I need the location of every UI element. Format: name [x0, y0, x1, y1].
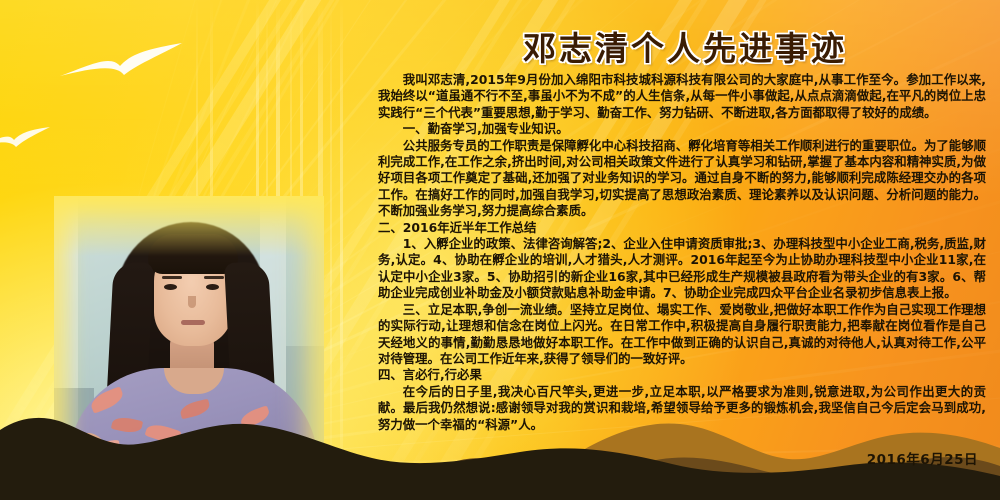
body-paragraph: 1、入孵企业的政策、法律咨询解答;2、企业入住申请资质审批;3、办理科技型中小企…: [378, 236, 986, 302]
seagull-icon-small: [0, 126, 52, 152]
body-paragraph: 我叫邓志清,2015年9月份加入绵阳市科技城科源科技有限公司的大家庭中,从事工作…: [378, 72, 986, 121]
body-paragraph: 在今后的日子里,我决心百尺竿头,更进一步,立足本职,以严格要求为准则,锐意进取,…: [378, 384, 986, 433]
eye-right: [206, 284, 219, 290]
body-paragraph: 公共服务专员的工作职责是保障孵化中心科技招商、孵化培育等相关工作顺利进行的重要职…: [378, 138, 986, 220]
light-column: [340, 0, 343, 500]
body-paragraph: 一、勤奋学习,加强专业知识。: [378, 121, 986, 137]
poster-canvas: 邓志清个人先进事迹 我叫邓志清,2015年9月份加入绵阳市科技城科源科技有限公司…: [0, 0, 1000, 500]
mouth: [181, 320, 205, 325]
date-stamp: 2016年6月25日: [867, 448, 978, 468]
light-column: [330, 0, 332, 500]
eyebrow-left: [162, 276, 182, 279]
body-paragraph: 四、言必行,行必果: [378, 367, 986, 383]
portrait-photo: [54, 196, 324, 500]
skirt-pattern: [174, 474, 191, 488]
eye-left: [164, 284, 177, 290]
skirt-pattern: [240, 476, 256, 490]
body-paragraph: 二、2016年近半年工作总结: [378, 220, 986, 236]
article-body: 我叫邓志清,2015年9月份加入绵阳市科技城科源科技有限公司的大家庭中,从事工作…: [378, 72, 986, 433]
page-title: 邓志清个人先进事迹: [0, 22, 1000, 70]
skirt-pattern: [140, 484, 158, 499]
skirt-pattern: [112, 472, 128, 486]
nose: [188, 296, 196, 308]
eyebrow-right: [204, 276, 224, 279]
avatar: [54, 196, 324, 500]
body-paragraph: 三、立足本职,争创一流业绩。坚持立足岗位、塌实工作、爱岗敬业,把做好本职工作作为…: [378, 302, 986, 368]
skirt-pattern: [206, 488, 225, 500]
